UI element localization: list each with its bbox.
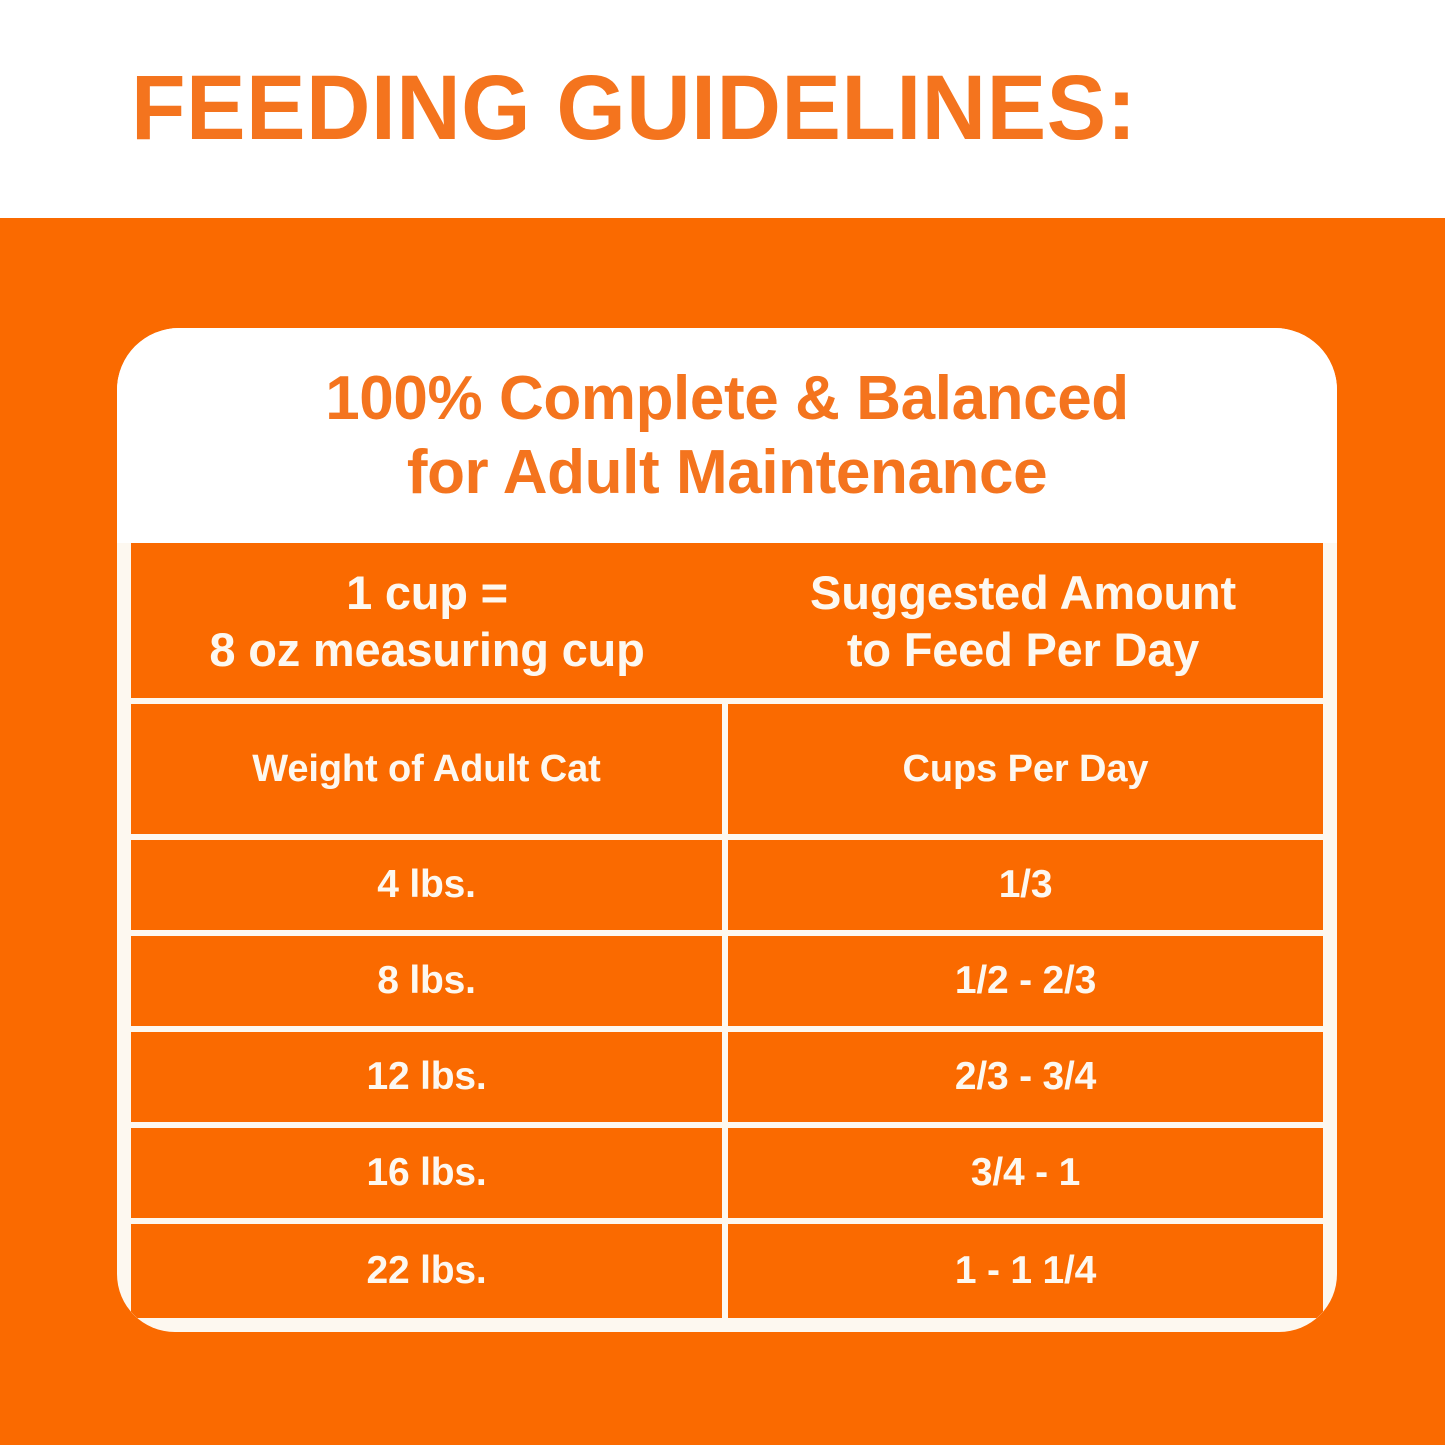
guidelines-card: 100% Complete & Balanced for Adult Maint… [117, 328, 1337, 1332]
cell-cups: 1 - 1 1/4 [728, 1224, 1323, 1318]
cell-weight-value: 4 lbs. [377, 863, 476, 907]
cell-cups-value: 3/4 - 1 [971, 1151, 1080, 1195]
column-header-weight: Weight of Adult Cat [131, 704, 722, 834]
banner-measure-line-1: 1 cup = [346, 564, 508, 621]
banner-amount-col: Suggested Amount to Feed Per Day [723, 543, 1323, 698]
table-row: 22 lbs. 1 - 1 1/4 [131, 1224, 1323, 1318]
cell-cups: 1/3 [728, 840, 1323, 930]
header-band: FEEDING GUIDELINES: [0, 0, 1445, 218]
table-banner-cell: 1 cup = 8 oz measuring cup Suggested Amo… [131, 543, 1323, 698]
table-row: 4 lbs. 1/3 [131, 840, 1323, 930]
banner-measure-line-2: 8 oz measuring cup [209, 621, 644, 678]
cell-weight: 16 lbs. [131, 1128, 722, 1218]
cell-weight-value: 16 lbs. [367, 1151, 487, 1195]
banner-measure-col: 1 cup = 8 oz measuring cup [131, 543, 723, 698]
column-header-cups: Cups Per Day [728, 704, 1323, 834]
cell-weight: 22 lbs. [131, 1224, 722, 1318]
column-header-cups-label: Cups Per Day [903, 748, 1149, 791]
banner-amount-line-1: Suggested Amount [810, 564, 1236, 621]
cell-weight: 4 lbs. [131, 840, 722, 930]
cell-weight: 12 lbs. [131, 1032, 722, 1122]
column-header-weight-label: Weight of Adult Cat [252, 748, 601, 791]
cell-cups: 2/3 - 3/4 [728, 1032, 1323, 1122]
cell-cups-value: 1/2 - 2/3 [955, 959, 1096, 1003]
cell-cups: 1/2 - 2/3 [728, 936, 1323, 1026]
card-title-line-1: 100% Complete & Balanced [325, 362, 1129, 436]
cell-weight-value: 8 lbs. [377, 959, 476, 1003]
table-row: 12 lbs. 2/3 - 3/4 [131, 1032, 1323, 1122]
table-header-row: Weight of Adult Cat Cups Per Day [131, 704, 1323, 834]
table-row: 16 lbs. 3/4 - 1 [131, 1128, 1323, 1218]
page-title: FEEDING GUIDELINES: [131, 58, 1137, 158]
feeding-guidelines-panel: FEEDING GUIDELINES: 100% Complete & Bala… [0, 0, 1445, 1445]
card-title-line-2: for Adult Maintenance [407, 436, 1047, 510]
cell-cups-value: 1/3 [999, 863, 1053, 907]
card-title: 100% Complete & Balanced for Adult Maint… [117, 328, 1337, 543]
table-banner-row: 1 cup = 8 oz measuring cup Suggested Amo… [131, 543, 1323, 698]
cell-cups-value: 2/3 - 3/4 [955, 1055, 1096, 1099]
banner-amount-line-2: to Feed Per Day [847, 621, 1199, 678]
cell-weight: 8 lbs. [131, 936, 722, 1026]
cell-weight-value: 12 lbs. [367, 1055, 487, 1099]
cell-cups: 3/4 - 1 [728, 1128, 1323, 1218]
cell-weight-value: 22 lbs. [367, 1249, 487, 1293]
table-row: 8 lbs. 1/2 - 2/3 [131, 936, 1323, 1026]
feeding-table: 1 cup = 8 oz measuring cup Suggested Amo… [131, 543, 1323, 1318]
cell-cups-value: 1 - 1 1/4 [955, 1249, 1096, 1293]
